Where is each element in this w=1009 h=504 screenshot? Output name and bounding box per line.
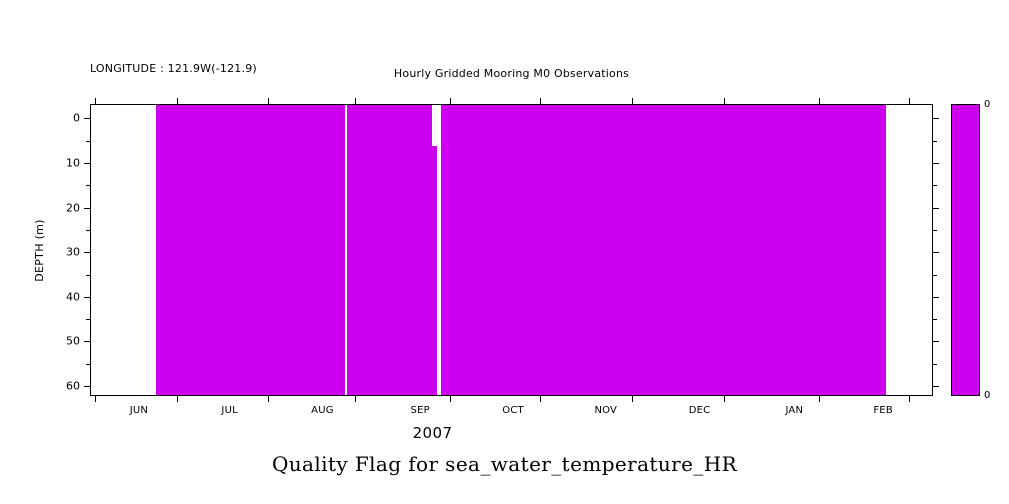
- x-axis-tick-top: [724, 98, 725, 105]
- figure-caption: Quality Flag for sea_water_temperature_H…: [0, 452, 1009, 476]
- x-axis-tick-label: OCT: [502, 405, 524, 416]
- y-axis-tick-label: 60: [66, 380, 80, 393]
- y-axis-tick-minor-right: [932, 364, 937, 365]
- y-axis-tick-major: [84, 252, 91, 253]
- y-axis-tick-major: [84, 163, 91, 164]
- x-axis-tick-top: [909, 98, 910, 105]
- x-axis-tick-top: [355, 98, 356, 105]
- y-axis-tick-minor: [86, 364, 91, 365]
- y-axis-tick-minor-right: [932, 230, 937, 231]
- y-axis-tick-label: 10: [66, 157, 80, 170]
- y-axis-tick-major-right: [932, 386, 939, 387]
- colorbar: 0 0: [951, 104, 980, 396]
- x-axis-tick-label: AUG: [311, 405, 334, 416]
- x-axis-tick: [724, 395, 725, 402]
- y-axis-tick-minor-right: [932, 275, 937, 276]
- x-axis-tick-label: SEP: [411, 405, 430, 416]
- x-axis-label: 2007: [90, 424, 933, 442]
- y-axis-tick-major-right: [932, 252, 939, 253]
- y-axis-tick-major-right: [932, 118, 939, 119]
- x-axis-tick-label: JAN: [785, 405, 803, 416]
- heatmap-data-block: [156, 105, 886, 395]
- x-axis-tick-top: [450, 98, 451, 105]
- x-axis-tick-top: [268, 98, 269, 105]
- y-axis-tick-label: 30: [66, 246, 80, 259]
- y-axis-label: DEPTH (m): [30, 104, 48, 396]
- colorbar-top-label: 0: [984, 99, 990, 110]
- x-axis-tick: [540, 395, 541, 402]
- y-axis-tick-minor: [86, 275, 91, 276]
- x-axis-tick: [450, 395, 451, 402]
- y-axis-tick-minor-right: [932, 319, 937, 320]
- colorbar-gradient: [951, 104, 980, 396]
- y-axis-tick-minor-right: [932, 141, 937, 142]
- y-axis-tick-major: [84, 208, 91, 209]
- x-axis-tick: [95, 395, 96, 402]
- y-axis-tick-major: [84, 386, 91, 387]
- x-axis-tick-label: DEC: [689, 405, 711, 416]
- y-axis-tick-major-right: [932, 208, 939, 209]
- x-axis-tick-label: JUN: [130, 405, 148, 416]
- y-axis-label-text: DEPTH (m): [33, 219, 46, 282]
- y-axis-tick-major: [84, 297, 91, 298]
- y-axis-tick-label: 0: [73, 112, 80, 125]
- x-axis-tick-label: JUL: [221, 405, 237, 416]
- x-axis-tick: [177, 395, 178, 402]
- x-axis-tick-top: [177, 98, 178, 105]
- colorbar-bottom-label: 0: [984, 390, 990, 401]
- y-axis-tick-major: [84, 118, 91, 119]
- y-axis-tick-minor: [86, 230, 91, 231]
- heatmap-data-gap: [437, 105, 441, 395]
- x-axis-tick-label: NOV: [594, 405, 617, 416]
- y-axis-tick-minor-right: [932, 185, 937, 186]
- x-axis-tick-top: [540, 98, 541, 105]
- y-axis-tick-major-right: [932, 297, 939, 298]
- heatmap-data-gap: [345, 105, 348, 395]
- y-axis-tick-major-right: [932, 341, 939, 342]
- x-axis-tick: [909, 395, 910, 402]
- heatmap-plot-area: 0102030405060 JUNJULAUGSEPOCTNOVDECJANFE…: [90, 104, 933, 396]
- x-axis-tick: [268, 395, 269, 402]
- y-axis-tick-minor: [86, 319, 91, 320]
- y-axis-tick-major: [84, 341, 91, 342]
- y-axis-tick-label: 50: [66, 335, 80, 348]
- plot-title: Hourly Gridded Mooring M0 Observations: [90, 67, 933, 80]
- x-axis-tick: [819, 395, 820, 402]
- y-axis-tick-major-right: [932, 163, 939, 164]
- y-axis-tick-minor: [86, 141, 91, 142]
- x-axis-tick-top: [819, 98, 820, 105]
- x-axis-tick: [355, 395, 356, 402]
- x-axis-tick-label: FEB: [873, 405, 893, 416]
- heatmap-data-layer: [91, 105, 932, 395]
- x-axis-tick-top: [95, 98, 96, 105]
- y-axis-tick-label: 20: [66, 201, 80, 214]
- x-axis-tick-top: [632, 98, 633, 105]
- y-axis-tick-minor: [86, 185, 91, 186]
- x-axis-tick: [632, 395, 633, 402]
- x-axis-label-text: 2007: [413, 424, 453, 442]
- y-axis-tick-label: 40: [66, 290, 80, 303]
